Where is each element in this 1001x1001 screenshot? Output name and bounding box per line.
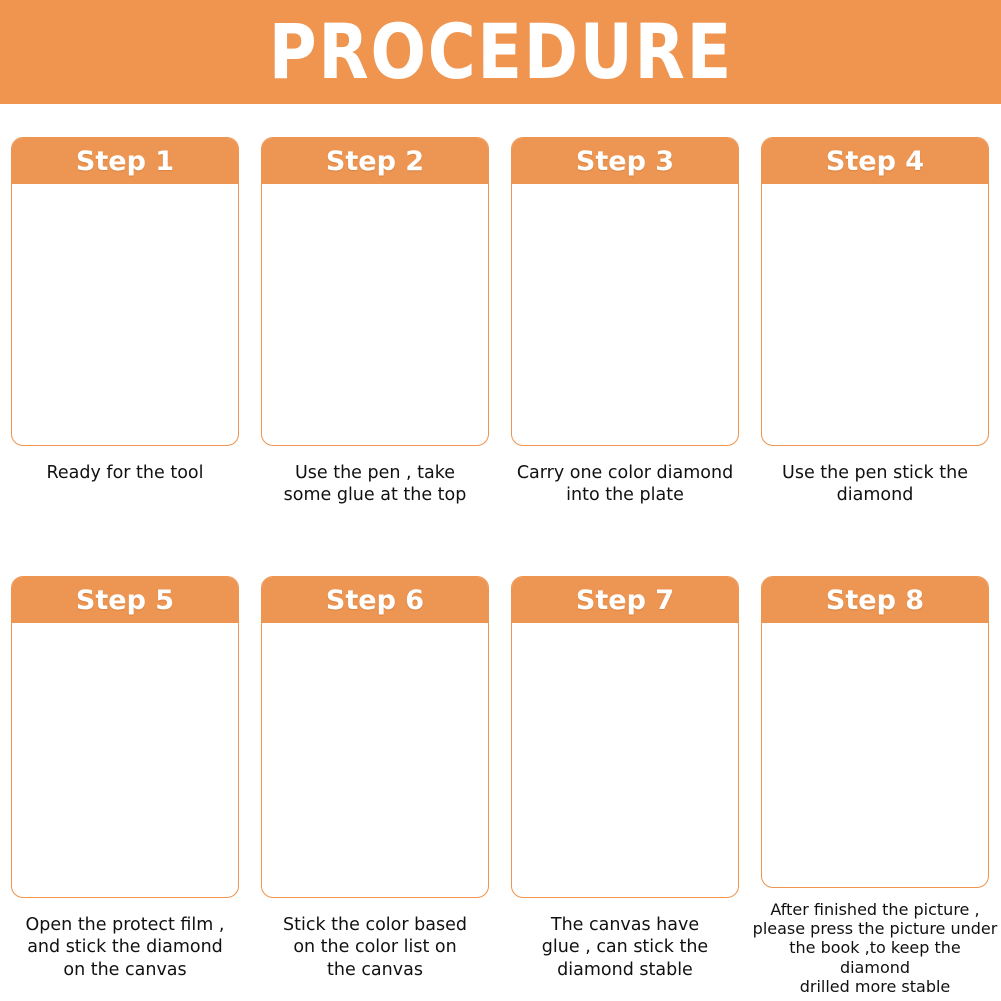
step-8-image <box>762 623 988 635</box>
step-8-caption: After finished the picture , please pres… <box>753 900 998 996</box>
step-card-6: Step 6 No.SymbolDMC121300323074331054581… <box>250 576 500 996</box>
step-card-3: Step 3 Carry one color diamond into the … <box>500 137 750 537</box>
step-5-header: Step 5 <box>12 577 238 623</box>
step-6-badge: Step 6 <box>326 587 424 614</box>
step-6-header: Step 6 <box>262 577 488 623</box>
step-7-card: Step 7 <box>511 576 739 898</box>
step-7-caption: The canvas have glue , can stick the dia… <box>508 914 743 981</box>
step-card-4: Step 4 Use the pen stick the diamond <box>750 137 1000 537</box>
step-7-badge: Step 7 <box>576 587 674 614</box>
step-7-image <box>512 623 738 635</box>
step-4-card: Step 4 <box>761 137 989 446</box>
procedure-infographic: PROCEDURE Step 1 <box>0 0 1001 1001</box>
steps-row-2: Step 5 Open the protect film , and stick… <box>0 576 1001 996</box>
step-3-caption: Carry one color diamond into the plate <box>508 462 743 507</box>
step-5-image <box>12 623 238 635</box>
step-7-header: Step 7 <box>512 577 738 623</box>
step-4-header: Step 4 <box>762 138 988 184</box>
page-header: PROCEDURE <box>0 0 1001 104</box>
step-8-header: Step 8 <box>762 577 988 623</box>
step-card-2: Step 2 <box>250 137 500 537</box>
step-card-8: Step 8 After finish <box>750 576 1000 996</box>
step-1-caption: Ready for the tool <box>8 462 243 484</box>
step-2-caption: Use the pen , take some glue at the top <box>258 462 493 507</box>
step-3-card: Step 3 <box>511 137 739 446</box>
step-3-header: Step 3 <box>512 138 738 184</box>
step-card-1: Step 1 Ready for the tool <box>0 137 250 537</box>
step-6-card: Step 6 No.SymbolDMC121300323074331054581… <box>261 576 489 898</box>
step-card-7: Step 7 The canvas have glue , can stick … <box>500 576 750 996</box>
steps-row-1: Step 1 Ready for the tool <box>0 137 1001 537</box>
step-1-badge: Step 1 <box>76 148 174 175</box>
step-8-badge: Step 8 <box>826 587 924 614</box>
step-2-badge: Step 2 <box>326 148 424 175</box>
step-8-card: Step 8 <box>761 576 989 888</box>
step-5-card: Step 5 <box>11 576 239 898</box>
step-card-5: Step 5 Open the protect film , and stick… <box>0 576 250 996</box>
step-4-caption: Use the pen stick the diamond <box>758 462 993 507</box>
step-2-card: Step 2 <box>261 137 489 446</box>
step-1-card: Step 1 <box>11 137 239 446</box>
step-4-badge: Step 4 <box>826 148 924 175</box>
step-1-header: Step 1 <box>12 138 238 184</box>
step-5-caption: Open the protect film , and stick the di… <box>8 914 243 981</box>
step-6-caption: Stick the color based on the color list … <box>258 914 493 981</box>
step-5-badge: Step 5 <box>76 587 174 614</box>
step-3-badge: Step 3 <box>576 148 674 175</box>
step-2-header: Step 2 <box>262 138 488 184</box>
step-6-image: No.SymbolDMC1213003230743310545816564676… <box>262 623 488 635</box>
page-title: PROCEDURE <box>268 14 732 90</box>
